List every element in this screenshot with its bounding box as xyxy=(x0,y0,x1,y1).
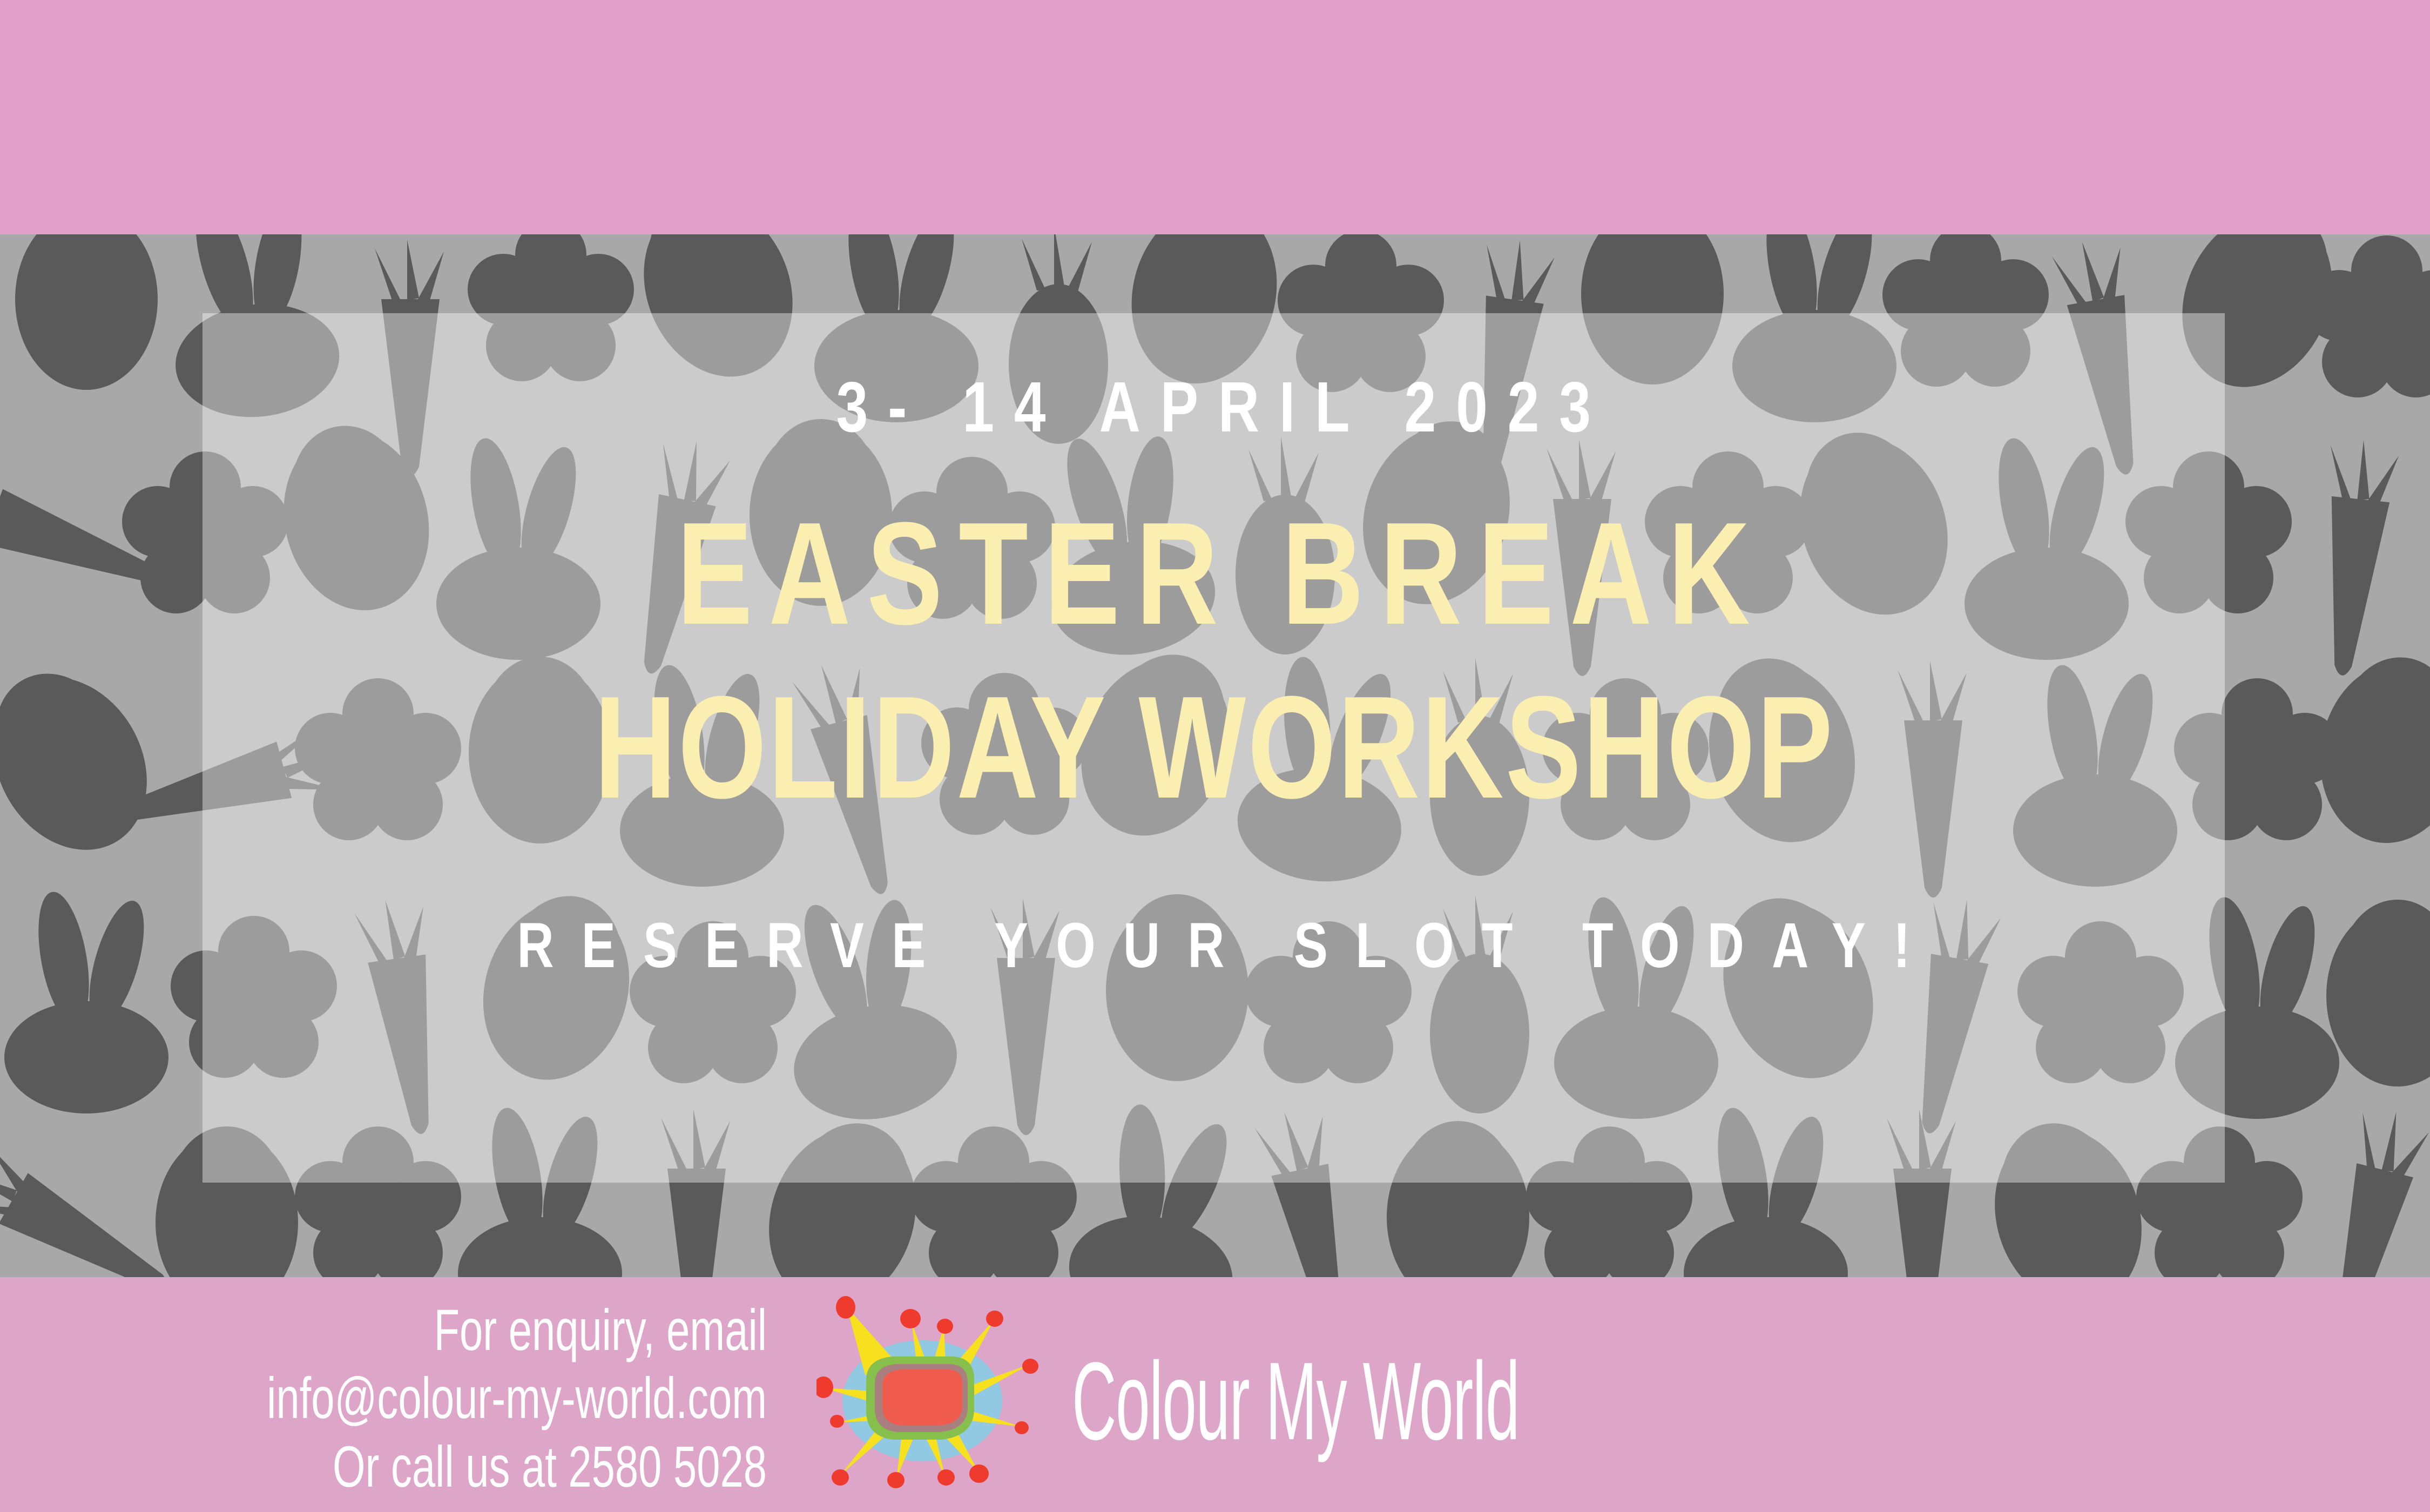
contact-info-block: For enquiry, email info@colour-my-world.… xyxy=(215,1296,767,1501)
contact-line-phone[interactable]: Or call us at 2580 5028 xyxy=(215,1433,767,1501)
headline-line-two: HOLIDAY WORKSHOP xyxy=(593,675,1835,821)
headline-line-one: EASTER BREAK xyxy=(661,501,1766,647)
reserve-slot-cta[interactable]: RESERVE YOUR SLOT TODAY! xyxy=(489,914,1938,977)
easter-workshop-poster: 3- 14 APRIL 2023 EASTER BREAK HOLIDAY WO… xyxy=(0,0,2430,1512)
contact-line-email[interactable]: info@colour-my-world.com xyxy=(215,1364,767,1432)
top-pink-band xyxy=(0,0,2430,234)
contact-line-enquiry: For enquiry, email xyxy=(215,1296,767,1364)
sun-splash-icon-svg xyxy=(816,1295,1043,1512)
hero-text-stack: 3- 14 APRIL 2023 EASTER BREAK HOLIDAY WO… xyxy=(202,313,2225,1183)
brand-wordmark: Colour My World xyxy=(1072,1346,1519,1456)
event-date-line: 3- 14 APRIL 2023 xyxy=(816,372,1611,443)
colour-my-world-sun-splash-logo-icon xyxy=(816,1295,1043,1512)
